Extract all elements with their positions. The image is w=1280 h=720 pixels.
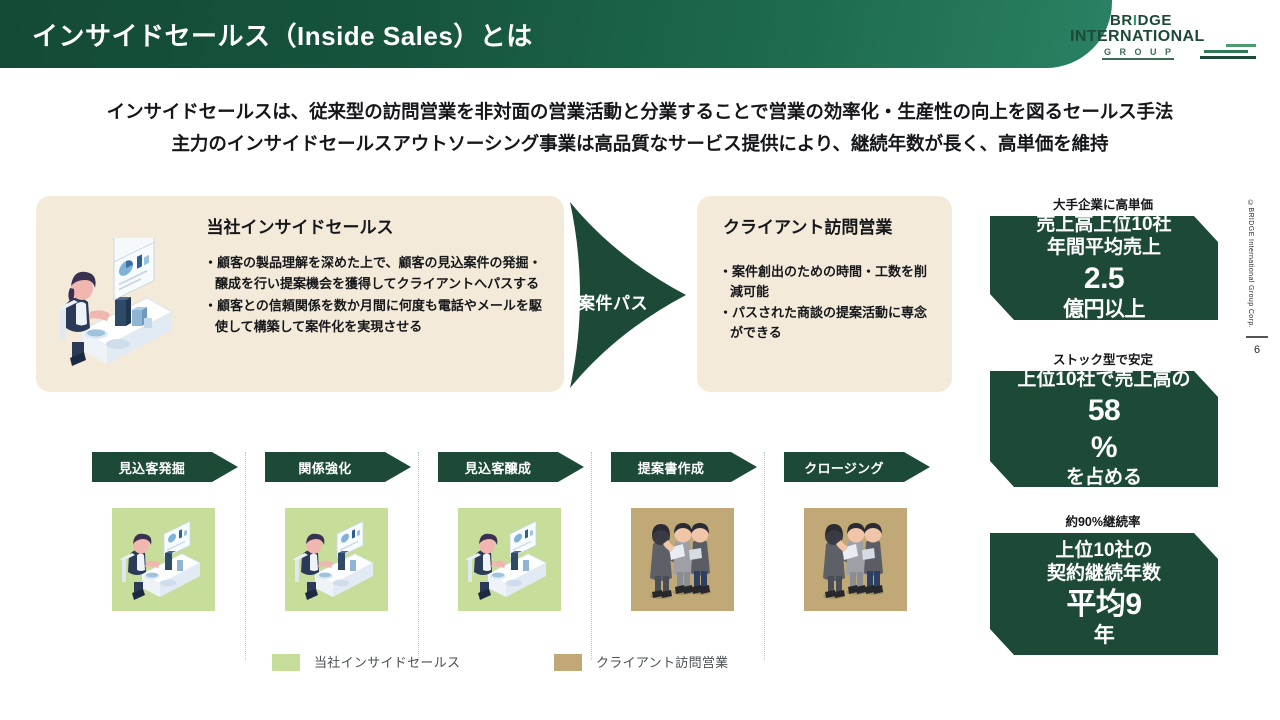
inside-sales-desk-illustration	[52, 238, 172, 370]
stat-3-line-1: 上位10社の	[1055, 539, 1152, 563]
logo-underline	[1102, 58, 1174, 60]
step-panel-5	[804, 508, 907, 611]
stat-2-line-1: 上位10社で売上高の	[1017, 368, 1190, 392]
brand-logo: BRIDGE INTERNATIONAL G R O U P	[1070, 12, 1256, 62]
desk-person-icon	[458, 508, 561, 611]
stat-2-value: 58%	[1088, 392, 1120, 466]
logo-bridge-post: DGE	[1138, 12, 1172, 29]
process-step-4[interactable]: 提案書作成	[611, 452, 757, 482]
step-panel-4	[631, 508, 734, 611]
logo-stripes-icon	[1178, 44, 1256, 62]
client-card-bullet-1: ・案件創出のための時間・工数を削減可能	[719, 262, 939, 302]
stat-1-number: 2.5	[1063, 260, 1145, 297]
own-card-bullet-1: ・顧客の製品理解を深めた上で、顧客の見込案件の発掘・醸成を行い提案機会を獲得して…	[204, 252, 554, 294]
stat-box-3: 上位10社の 契約継続年数 平均9年	[990, 533, 1218, 655]
subtitle-line-2: 主力のインサイドセールスアウトソーシング事業は高品質なサービス提供により、継続年…	[0, 128, 1280, 160]
stat-caption-2: ストック型で安定	[988, 349, 1218, 368]
subtitle-block: インサイドセールスは、従来型の訪問営業を非対面の営業活動と分業することで営業の効…	[0, 96, 1280, 160]
stat-2-number: 58	[1088, 392, 1120, 429]
page-number: 6	[1246, 344, 1268, 356]
stat-1-unit: 億円以上	[1063, 297, 1145, 323]
client-card-bullet-2: ・パスされた商談の提案活動に専念ができる	[719, 303, 939, 343]
own-card-body: ・顧客の製品理解を深めた上で、顧客の見込案件の発掘・醸成を行い提案機会を獲得して…	[204, 252, 554, 338]
legend-swatch-client-visit	[554, 654, 582, 671]
client-card-title: クライアント訪問営業	[723, 213, 892, 238]
stat-box-2: 上位10社で売上高の 58% を占める	[990, 371, 1218, 487]
process-step-2[interactable]: 関係強化	[265, 452, 411, 482]
client-card-body: ・案件創出のための時間・工数を削減可能 ・パスされた商談の提案活動に専念ができる	[719, 262, 939, 344]
legend-swatch-inside-sales	[272, 654, 300, 671]
own-card-title: 当社インサイドセールス	[36, 213, 564, 238]
process-step-1-label: 見込客発掘	[92, 458, 212, 477]
desk-person-icon	[285, 508, 388, 611]
own-card-bullet-2: ・顧客との信頼関係を数か月間に何度も電話やメールを駆使して構築して案件化を実現さ…	[204, 295, 554, 337]
step-panel-3	[458, 508, 561, 611]
process-step-3-label: 見込客醸成	[438, 458, 558, 477]
case-pass-label: 案件パス	[578, 289, 648, 314]
process-step-5[interactable]: クロージング	[784, 452, 930, 482]
business-meeting-icon	[631, 508, 734, 611]
client-visit-sales-card: クライアント訪問営業 ・案件創出のための時間・工数を削減可能 ・パスされた商談の…	[697, 196, 952, 392]
subtitle-line-1: インサイドセールスは、従来型の訪問営業を非対面の営業活動と分業することで営業の効…	[0, 96, 1280, 128]
process-step-4-label: 提案書作成	[611, 458, 731, 477]
stat-2-unit: %	[1088, 429, 1120, 466]
page-number-rule	[1246, 336, 1268, 338]
step-panel-1	[112, 508, 215, 611]
process-step-5-label: クロージング	[784, 458, 904, 477]
legend-label-client-visit: クライアント訪問営業	[596, 652, 728, 671]
stat-1-value: 2.5億円以上	[1063, 260, 1145, 323]
stat-1-line-1: 売上高上位10社	[1036, 213, 1171, 237]
page-title: インサイドセールス（Inside Sales）とは	[32, 16, 533, 53]
stat-3-number: 平均9	[1066, 586, 1141, 623]
logo-line-3: G R O U P	[1104, 47, 1174, 57]
desk-person-icon	[112, 508, 215, 611]
business-meeting-icon	[804, 508, 907, 611]
process-step-2-label: 関係強化	[265, 458, 385, 477]
stat-3-unit: 年	[1066, 623, 1141, 649]
step-panel-2	[285, 508, 388, 611]
logo-bridge-pre: BR	[1110, 12, 1133, 29]
stat-2-line-4: を占める	[1066, 466, 1142, 490]
stat-caption-1: 大手企業に高単価	[988, 194, 1218, 213]
legend-label-inside-sales: 当社インサイドセールス	[314, 652, 460, 671]
logo-line-1: BRIDGE	[1110, 12, 1172, 29]
process-step-3[interactable]: 見込客醸成	[438, 452, 584, 482]
slide-header: インサイドセールス（Inside Sales）とは	[0, 0, 1112, 68]
stat-caption-3: 約90%継続率	[988, 511, 1218, 530]
stat-1-line-2: 年間平均売上	[1047, 236, 1161, 260]
stat-box-1: 売上高上位10社 年間平均売上 2.5億円以上	[990, 216, 1218, 320]
copyright-text: ©BRIDGE International Group Corp.	[1247, 200, 1254, 328]
process-step-1[interactable]: 見込客発掘	[92, 452, 238, 482]
stat-3-line-2: 契約継続年数	[1047, 562, 1161, 586]
stat-3-value: 平均9年	[1066, 586, 1141, 649]
